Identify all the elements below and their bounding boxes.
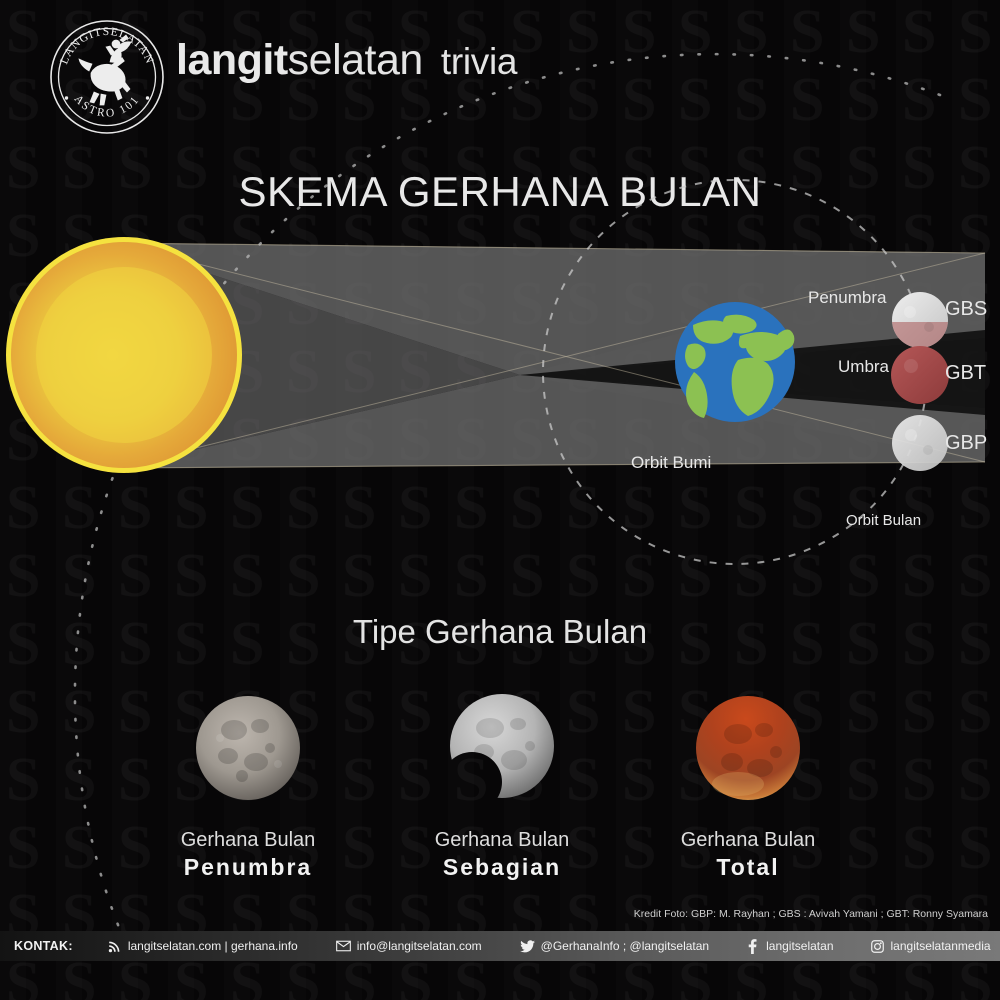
label-gbs: GBS [945, 298, 987, 321]
eclipse-type-caption: Gerhana Bulan Penumbra [128, 828, 368, 882]
caption-line1: Gerhana Bulan [128, 828, 368, 853]
caption-line2: Sebagian [382, 853, 622, 882]
moon-gbs [892, 292, 948, 348]
partial-moon-icon [444, 690, 560, 806]
footer-item-text: info@langitselatan.com [357, 939, 482, 953]
shadow-cones [115, 243, 985, 468]
footer-item-twitter[interactable]: @GerhanaInfo ; @langitselatan [520, 939, 709, 954]
footer-label: KONTAK: [14, 939, 73, 953]
eclipse-type-caption: Gerhana Bulan Sebagian [382, 828, 622, 882]
envelope-icon [336, 939, 351, 954]
caption-line1: Gerhana Bulan [628, 828, 868, 853]
footer-item-website[interactable]: langitselatan.com | gerhana.info [107, 939, 298, 954]
label-umbra: Umbra [838, 357, 889, 377]
footer-item-text: langitselatanmedia [891, 939, 991, 953]
moon-gbt [891, 346, 949, 404]
eclipse-type-card: Gerhana Bulan Total [628, 690, 868, 882]
caption-line2: Total [628, 853, 868, 882]
eclipse-type-card: Gerhana Bulan Penumbra [128, 690, 368, 882]
label-gbt: GBT [945, 362, 986, 385]
footer-item-email[interactable]: info@langitselatan.com [336, 939, 482, 954]
penumbral-moon-icon [190, 690, 306, 806]
eclipse-type-caption: Gerhana Bulan Total [628, 828, 868, 882]
eclipse-type-card: Gerhana Bulan Sebagian [382, 690, 622, 882]
infographic-canvas: S LANGITSELATAN ASTRO 101 [0, 0, 1000, 1000]
footer-item-instagram[interactable]: langitselatanmedia [870, 939, 991, 954]
rss-icon [107, 939, 122, 954]
instagram-icon [870, 939, 885, 954]
total-moon-icon [690, 690, 806, 806]
section-title-types: Tipe Gerhana Bulan [0, 613, 1000, 651]
caption-line2: Penumbra [128, 853, 368, 882]
caption-line1: Gerhana Bulan [382, 828, 622, 853]
footer-item-facebook[interactable]: langitselatan [745, 939, 833, 954]
photo-credit: Kredit Foto: GBP: M. Rayhan ; GBS : Aviv… [634, 908, 988, 920]
footer-contact-bar: KONTAK: langitselatan.com | gerhana.info… [0, 931, 1000, 961]
moon-gbp [892, 415, 948, 471]
label-penumbra: Penumbra [808, 288, 886, 308]
footer-item-text: langitselatan.com | gerhana.info [128, 939, 298, 953]
footer-item-text: langitselatan [766, 939, 833, 953]
footer-item-text: @GerhanaInfo ; @langitselatan [541, 939, 709, 953]
label-orbit-bumi: Orbit Bumi [631, 453, 711, 473]
facebook-icon [745, 939, 760, 954]
twitter-icon [520, 939, 535, 954]
sun-graphic [6, 237, 242, 473]
label-gbp: GBP [945, 432, 987, 455]
label-orbit-bulan: Orbit Bulan [846, 512, 921, 529]
earth-graphic [675, 302, 795, 422]
